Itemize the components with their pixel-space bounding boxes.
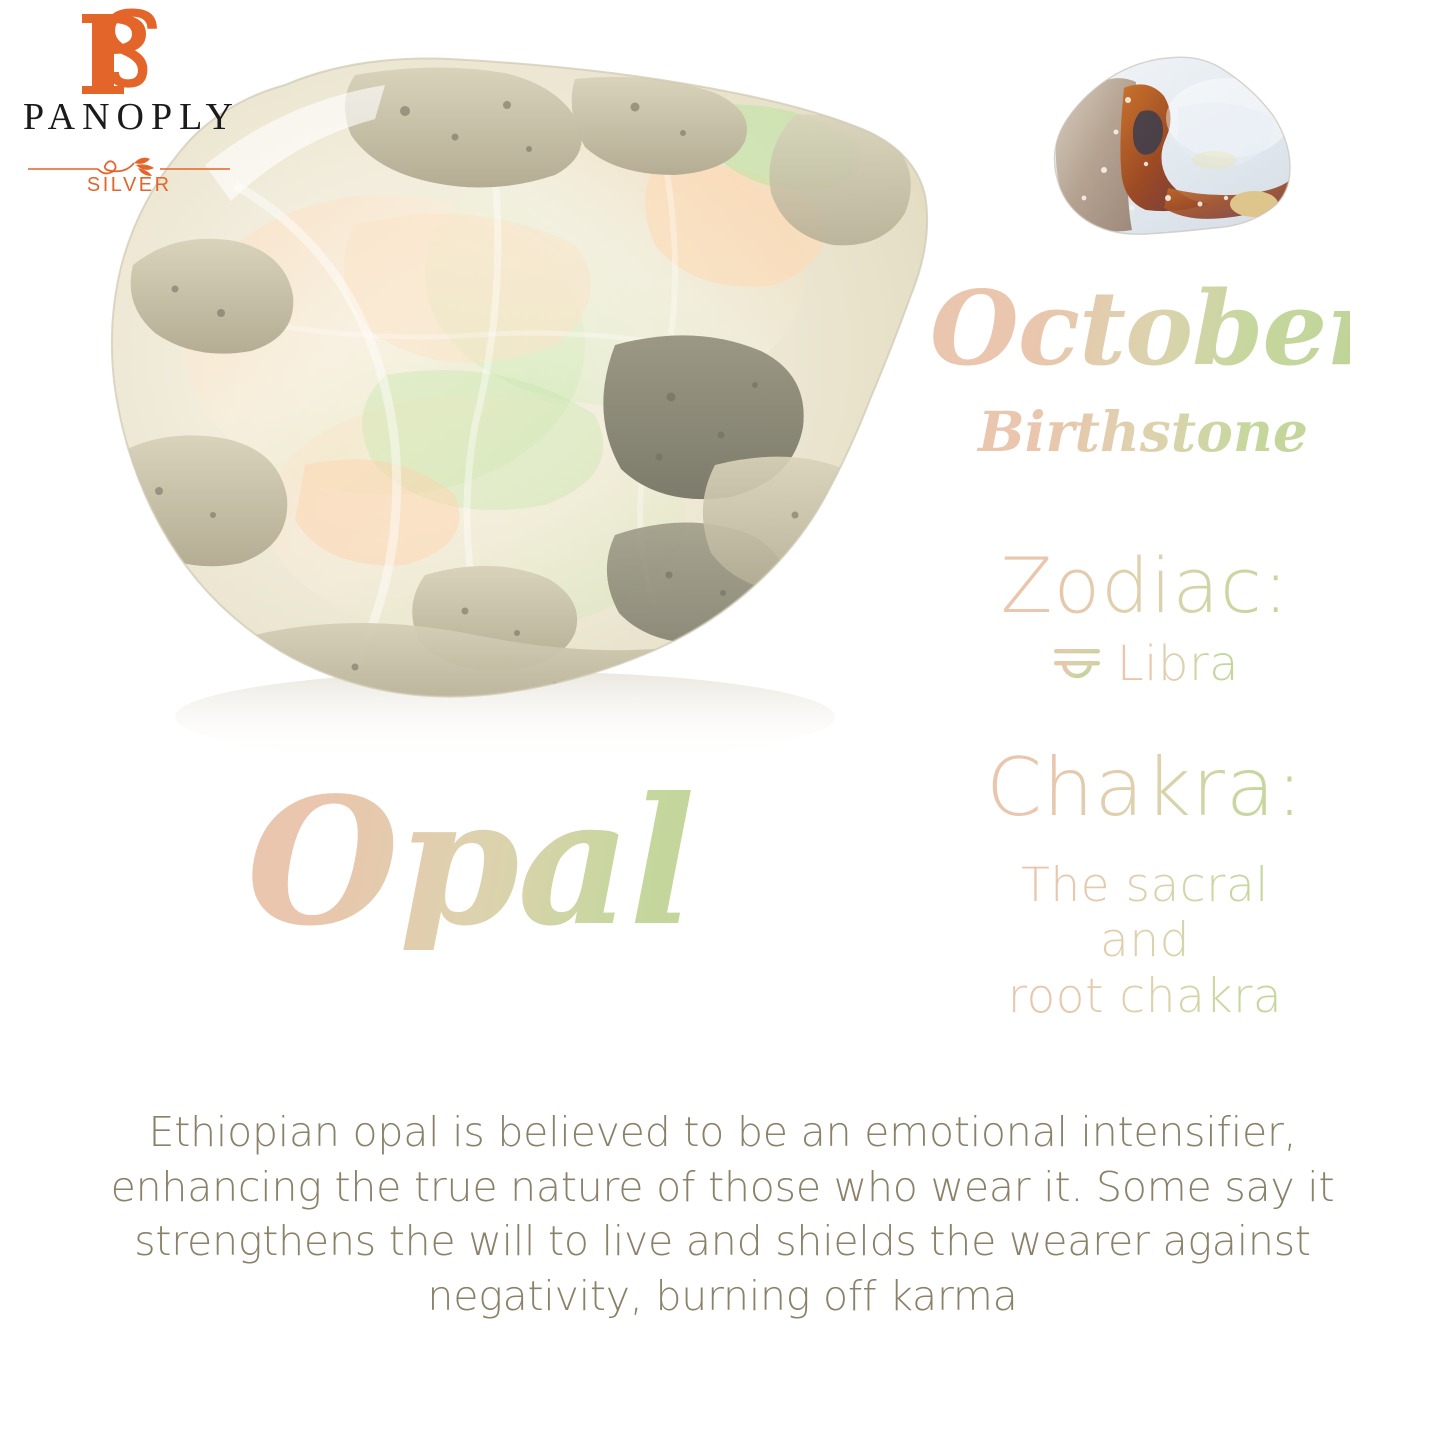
chakra-value-line-3: root chakra <box>940 969 1350 1024</box>
birthstone-subtitle: Birthstone <box>938 404 1348 459</box>
chakra-value: The sacral and root chakra <box>940 858 1350 1024</box>
zodiac-value: Libra <box>1117 640 1239 688</box>
zodiac-value-row: Libra <box>940 640 1350 688</box>
zodiac-label: Zodiac: <box>940 548 1350 624</box>
libra-zodiac-icon <box>1051 641 1103 687</box>
brand-logo: PANOPLY SILVER <box>8 6 248 196</box>
month-heading: October <box>930 278 1350 380</box>
panoply-monogram-icon <box>68 8 188 94</box>
chakra-label: Chakra: <box>940 748 1350 828</box>
stone-description: Ethiopian opal is believed to be an emot… <box>45 1105 1400 1323</box>
stone-name-title: Opal <box>170 775 770 950</box>
thumbnail-opal-image <box>1028 48 1313 263</box>
chakra-value-line-1: The sacral <box>940 858 1350 913</box>
chakra-value-line-2: and <box>940 913 1350 968</box>
brand-name: PANOPLY <box>8 98 248 136</box>
brand-tagline: SILVER <box>8 174 248 197</box>
